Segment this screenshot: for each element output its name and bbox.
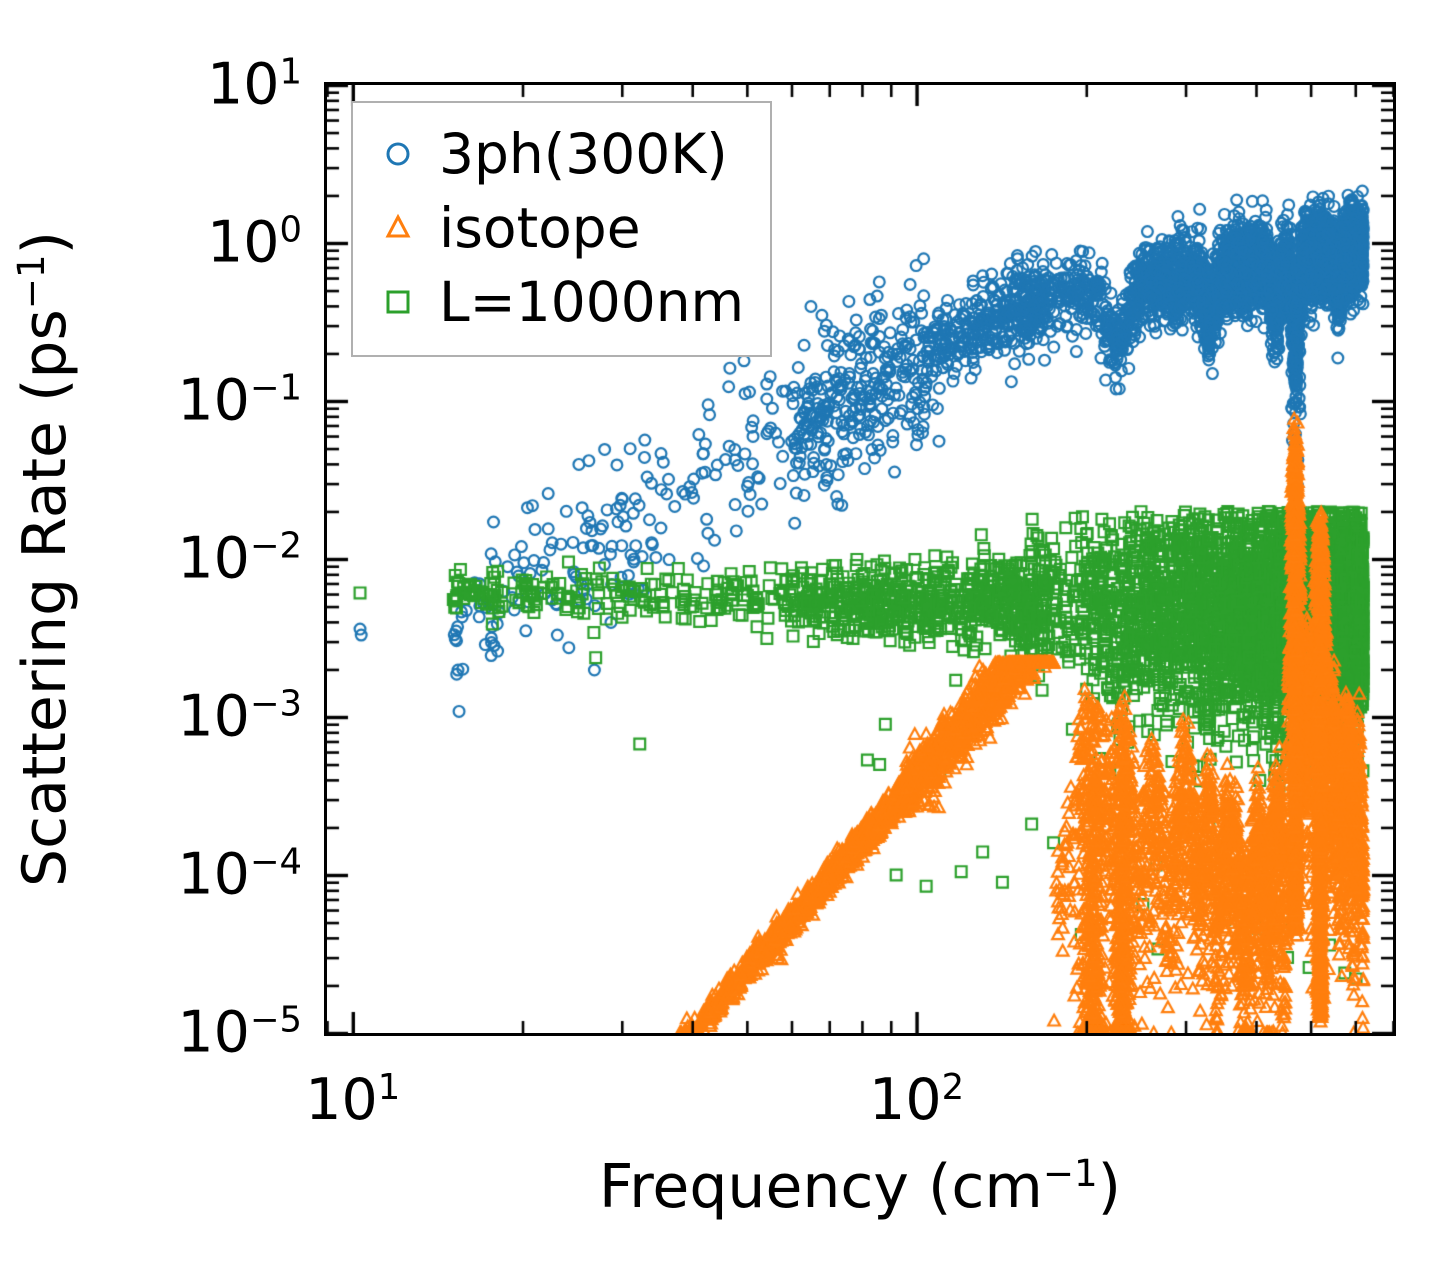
legend-label-boundary: L=1000nm	[439, 270, 744, 334]
x-tick-label-1: 102	[869, 1072, 964, 1129]
legend-marker-triangle-icon	[371, 211, 425, 245]
y-tick-label-3: 10−2	[177, 531, 302, 588]
x-axis-label: Frequency (cm−1)	[324, 1152, 1396, 1222]
x-axis-label-base: Frequency (cm	[599, 1152, 1043, 1222]
y-axis-label-container: Scattering Rate (ps−1)	[0, 0, 90, 1118]
legend-marker-circle-icon	[371, 137, 425, 171]
scattering-rate-figure: Scattering Rate (ps−1) 10110010−110−210−…	[0, 0, 1455, 1287]
y-axis-label: Scattering Rate (ps−1)	[10, 231, 80, 887]
y-axis-label-base: Scattering Rate (ps	[10, 309, 80, 887]
legend-label-3ph: 3ph(300K)	[439, 122, 728, 186]
legend-item-3ph: 3ph(300K)	[371, 117, 744, 191]
legend-item-isotope: isotope	[371, 191, 744, 265]
y-tick-label-2: 10−1	[177, 373, 302, 430]
x-axis-label-exponent: −1	[1043, 1151, 1098, 1195]
legend: 3ph(300K) isotope L=1000nm	[351, 101, 772, 357]
y-axis-label-tail: )	[10, 231, 80, 254]
legend-marker-square-icon	[371, 285, 425, 319]
x-tick-label-0: 101	[305, 1072, 400, 1129]
legend-label-isotope: isotope	[439, 196, 641, 260]
y-axis-label-exponent: −1	[9, 254, 53, 309]
y-tick-label-1: 100	[207, 215, 302, 272]
y-tick-label-5: 10−4	[177, 847, 302, 904]
y-tick-label-6: 10−5	[177, 1005, 302, 1062]
y-tick-label-4: 10−3	[177, 689, 302, 746]
legend-item-boundary: L=1000nm	[371, 265, 744, 339]
y-tick-label-0: 101	[207, 57, 302, 114]
x-axis-label-tail: )	[1098, 1152, 1121, 1222]
